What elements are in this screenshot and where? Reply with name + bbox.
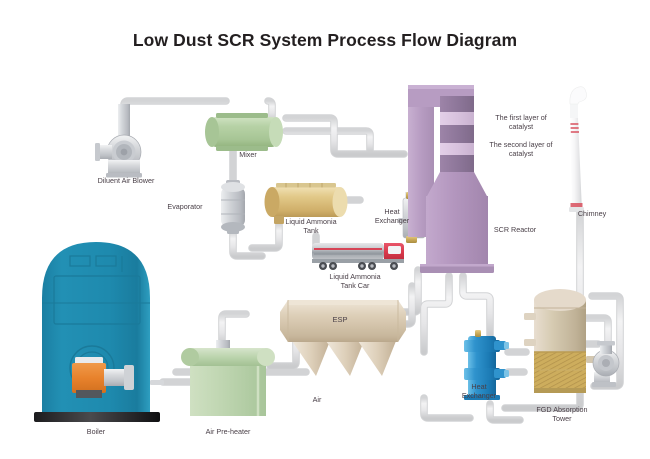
equipment-boiler[interactable] [34,242,164,422]
label-heat-exchanger-lower: Heat Exchanger [450,382,508,400]
equipment-liquid-ammonia-tank-car[interactable] [312,243,404,270]
equipment-chimney[interactable] [569,87,587,212]
annotation-catalyst-layer-1: The first layer of catalyst [481,113,561,131]
label-evaporator: Evaporator [151,202,219,211]
equipment-air-preheater[interactable] [181,340,275,416]
label-fgd-absorption-tower: FGD Absorption Tower [520,405,604,423]
label-diluent-air-blower: Diluent Air Blower [76,176,176,185]
catalyst-layer-1-band [440,112,474,125]
label-esp: ESP [320,315,360,324]
label-liquid-ammonia-tank: Liquid Ammonia Tank [271,217,351,235]
label-air-preheater: Air Pre-heater [190,427,266,436]
equipment-mixer[interactable] [205,113,283,151]
equipment-fgd-absorption-tower[interactable] [524,289,596,393]
equipment-diluent-air-blower[interactable] [95,104,142,178]
label-mixer: Mixer [218,150,278,159]
equipment-evaporator[interactable] [221,180,245,234]
annotation-catalyst-layer-2: The second layer of catalyst [478,140,564,158]
catalyst-housing-top [440,96,474,112]
label-scr-reactor: SCR Reactor [482,225,548,234]
label-heat-exchanger-upper: Heat Exchanger [363,207,421,225]
diagram-canvas: Low Dust SCR System Process Flow Diagram [0,0,650,459]
label-liquid-ammonia-tank-car: Liquid Ammonia Tank Car [313,272,397,290]
label-chimney: Chimney [564,209,620,218]
equipment-fgd-outlet-fan[interactable] [592,341,619,387]
annotation-air-stream: Air [305,395,329,404]
label-boiler: Boiler [70,427,122,436]
catalyst-layer-2-band [440,143,474,155]
